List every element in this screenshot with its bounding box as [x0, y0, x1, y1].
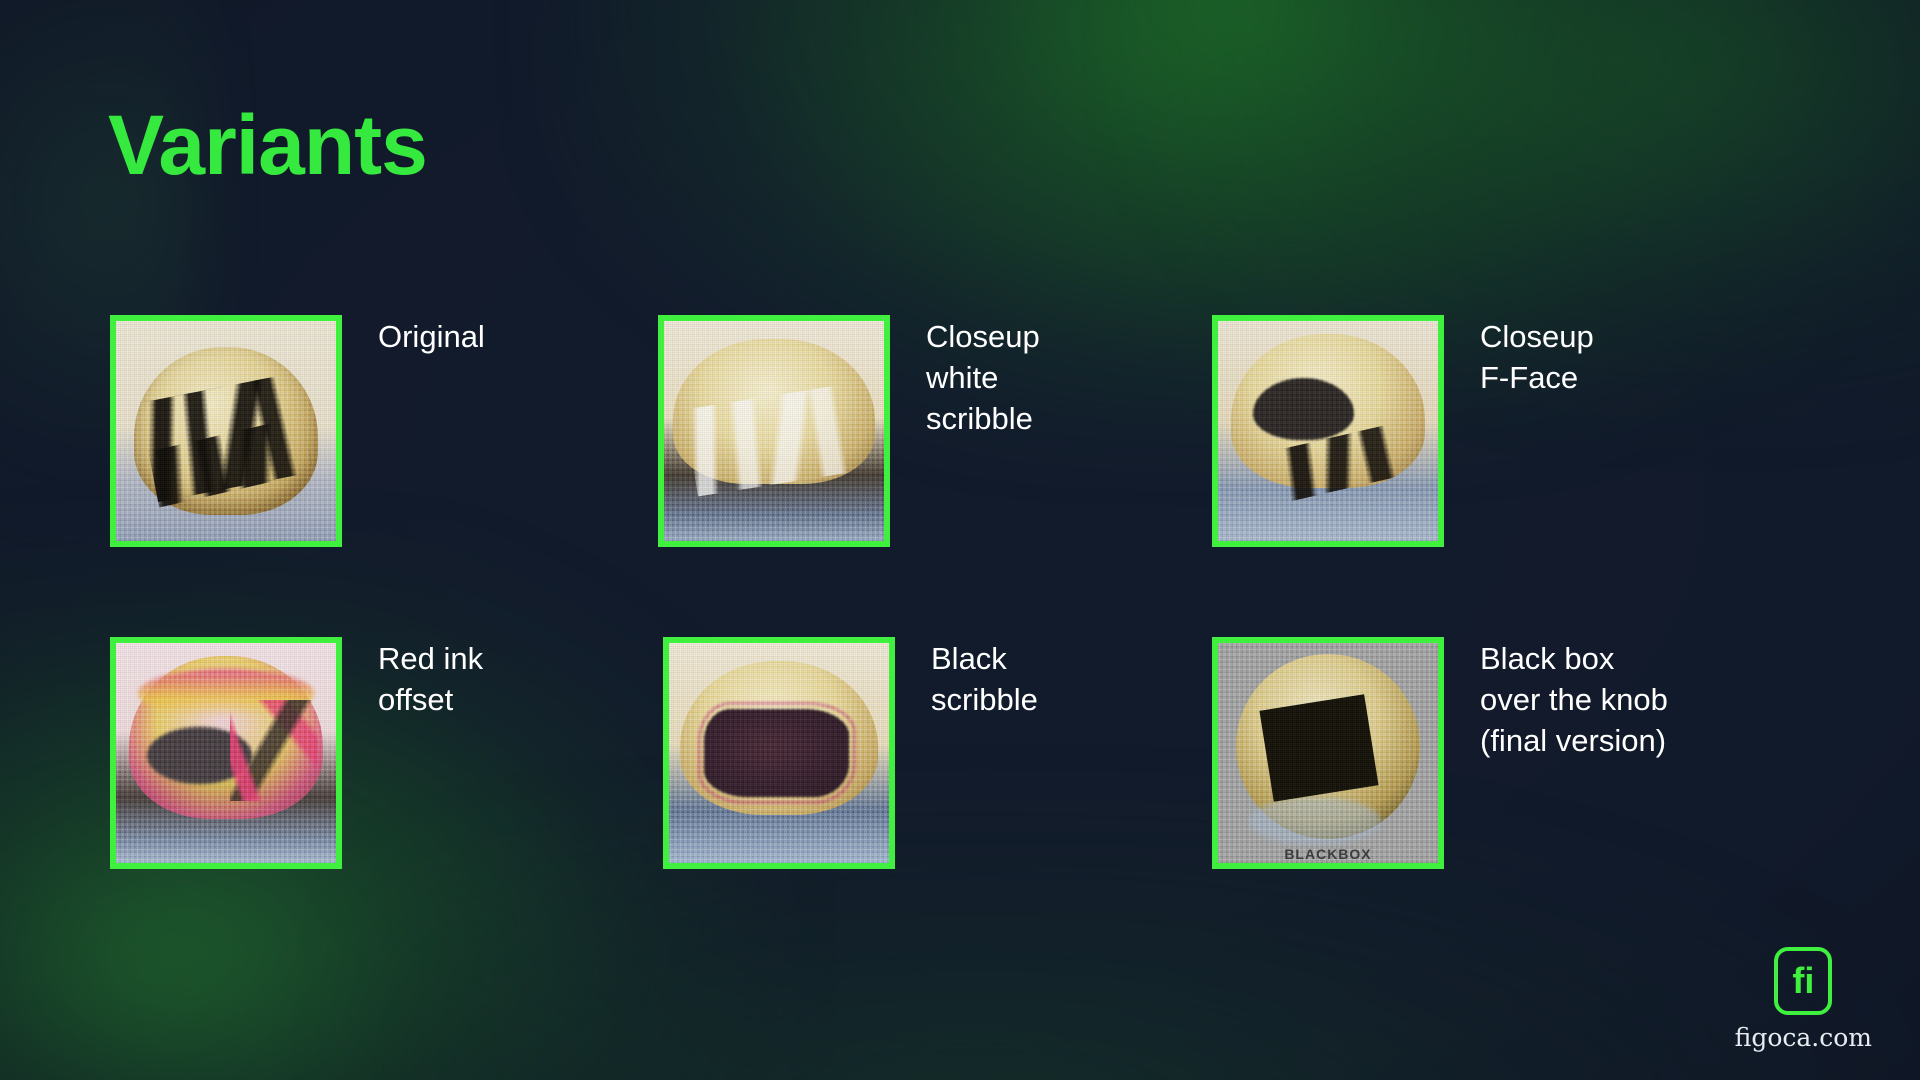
variant-card-closeup-f-face[interactable]: Closeup F-Face — [1212, 315, 1594, 547]
slide-canvas: Variants Original — [0, 0, 1920, 1080]
artwork-image: BLACKBOX — [1218, 643, 1438, 863]
artwork-image — [669, 643, 889, 863]
variant-thumbnail-closeup-f-face[interactable] — [1212, 315, 1444, 547]
variants-grid: Original Closeup white scribble — [0, 0, 1920, 1080]
variant-card-black-scribble[interactable]: Black scribble — [663, 637, 1038, 869]
variant-label: Closeup F-Face — [1480, 315, 1594, 399]
artwork-bottom-caption: BLACKBOX — [1236, 846, 1421, 862]
figoca-logo-icon[interactable]: fi — [1774, 947, 1832, 1015]
variant-thumbnail-black-box-final[interactable]: BLACKBOX — [1212, 637, 1444, 869]
artwork-image — [664, 321, 884, 541]
logo-text: fi — [1792, 963, 1814, 999]
variant-card-closeup-white[interactable]: Closeup white scribble — [658, 315, 1040, 547]
variant-label: Closeup white scribble — [926, 315, 1040, 440]
variant-thumbnail-red-ink-offset[interactable] — [110, 637, 342, 869]
variant-card-black-box-final[interactable]: BLACKBOX Black box over the knob (final … — [1212, 637, 1668, 869]
grain-texture — [669, 643, 889, 863]
variant-card-original[interactable]: Original — [110, 315, 485, 547]
variant-label: Black box over the knob (final version) — [1480, 637, 1668, 762]
variant-label: Red ink offset — [378, 637, 483, 721]
variant-label: Black scribble — [931, 637, 1038, 721]
footer-branding: fi figoca.com — [1735, 947, 1872, 1052]
grain-texture — [1218, 321, 1438, 541]
grain-texture — [116, 643, 336, 863]
variant-label: Original — [378, 315, 485, 358]
artwork-image — [1218, 321, 1438, 541]
variant-thumbnail-black-scribble[interactable] — [663, 637, 895, 869]
variant-thumbnail-original[interactable] — [110, 315, 342, 547]
grain-texture — [116, 321, 336, 541]
variant-card-red-ink-offset[interactable]: Red ink offset — [110, 637, 483, 869]
artwork-image — [116, 321, 336, 541]
grain-texture — [1218, 643, 1438, 863]
grain-texture — [664, 321, 884, 541]
artwork-image — [116, 643, 336, 863]
site-url: figoca.com — [1735, 1023, 1872, 1052]
variant-thumbnail-closeup-white[interactable] — [658, 315, 890, 547]
